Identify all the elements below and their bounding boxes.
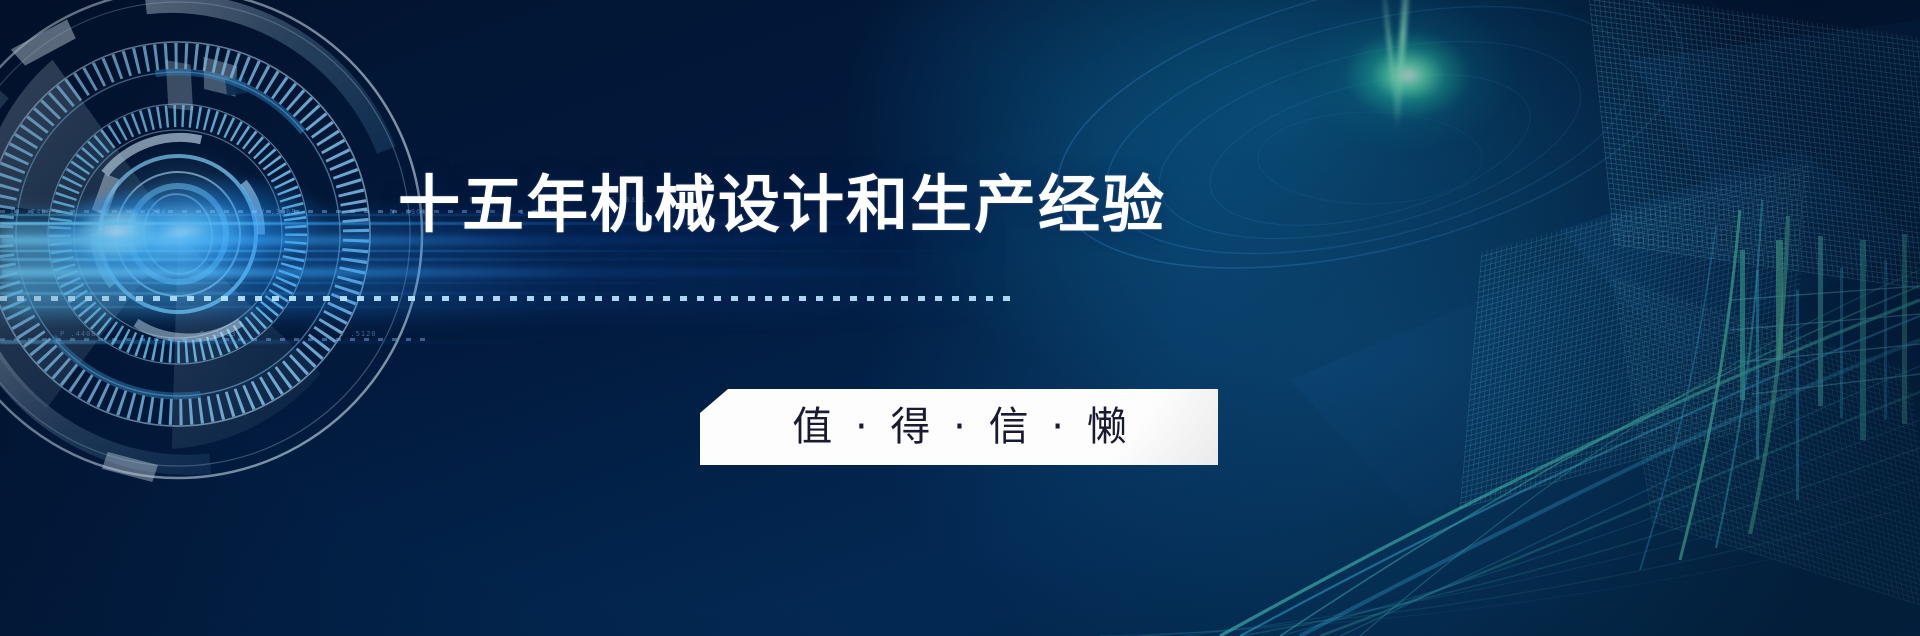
vignette-overlay: [0, 0, 1920, 636]
hero-banner: ID .2460 R .3204 V .3568 N .3961 L .2217…: [0, 0, 1920, 636]
